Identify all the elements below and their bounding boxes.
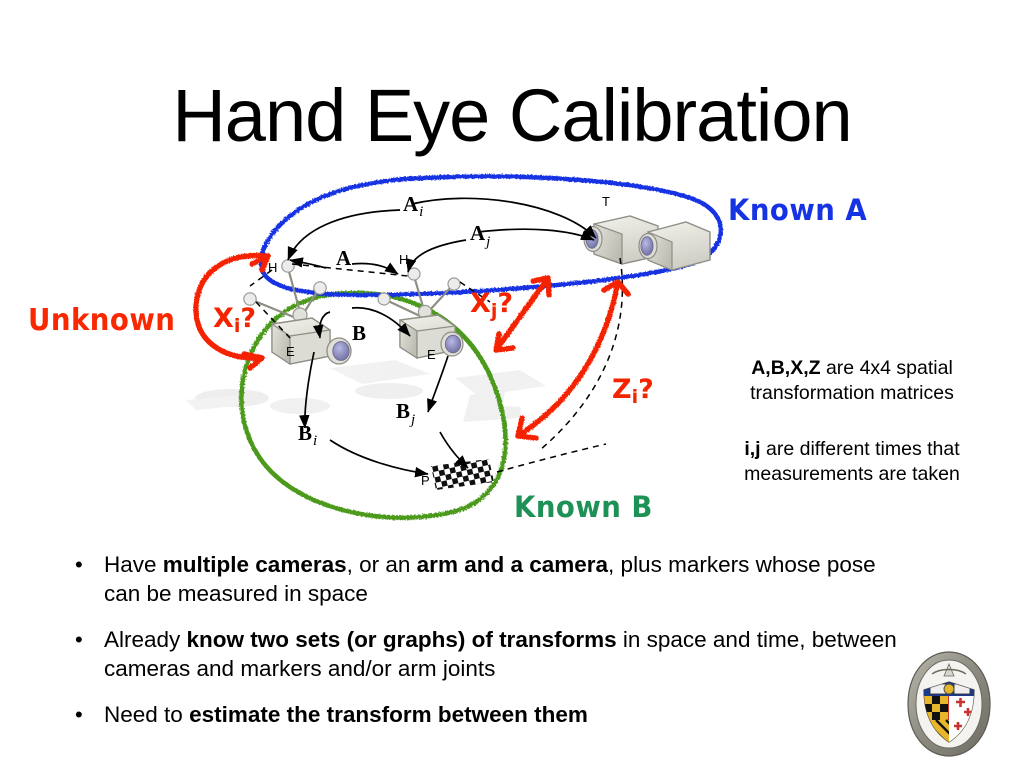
transform-label-a-j: Aj: [470, 221, 490, 250]
transform-label-b-i: Bi: [298, 421, 317, 449]
note-times-text: are different times that measurements ar…: [744, 438, 960, 485]
bullet-list: •Have multiple cameras, or an arm and a …: [68, 550, 898, 746]
bullet-text-segment: Have: [104, 552, 163, 577]
a-graph-edges: [288, 198, 596, 274]
unknown-z-i-arrow: [518, 282, 628, 438]
z-i-mark: ?: [638, 374, 654, 405]
transform-label-a-i: Ai: [403, 192, 423, 220]
seal-svg: [902, 650, 996, 758]
node-label-eye-1: E: [286, 344, 295, 359]
bullet-item: •Need to estimate the transform between …: [68, 700, 898, 729]
transform-label-b: B: [352, 321, 366, 345]
annotation-known-b: Known B: [514, 490, 653, 524]
annotation-known-a: Known A: [728, 193, 867, 227]
bullet-marker: •: [75, 625, 83, 654]
node-label-tracker: T: [602, 194, 610, 209]
transform-label-b-j: Bj: [396, 399, 415, 428]
node-label-hand-2: H: [399, 252, 408, 267]
stereo-tracker: [584, 216, 710, 270]
x-i-base: X: [213, 303, 234, 334]
bullet-marker: •: [75, 700, 83, 729]
transform-label-a: A: [336, 246, 352, 270]
node-label-eye-2: E: [427, 347, 436, 362]
z-i-base: Z: [612, 374, 632, 405]
x-i-mark: ?: [240, 303, 256, 334]
note-matrices-symbols: A,B,X,Z: [751, 357, 820, 379]
bullet-text-segment: multiple cameras: [163, 552, 347, 577]
checkerboard-marker: [431, 459, 494, 490]
johns-hopkins-seal: [902, 650, 996, 758]
bullet-marker: •: [75, 550, 83, 579]
bullet-item: •Already know two sets (or graphs) of tr…: [68, 625, 898, 683]
bullet-item: •Have multiple cameras, or an arm and a …: [68, 550, 898, 608]
bullet-text-segment: arm and a camera: [417, 552, 608, 577]
note-matrices: A,B,X,Z are 4x4 spatial transformation m…: [702, 356, 1002, 406]
note-times: i,j are different times that measurement…: [702, 437, 1002, 487]
x-j-base: X: [470, 288, 491, 319]
bullet-text-segment: estimate the transform between them: [189, 702, 588, 727]
annotation-z-i-query: Zi?: [612, 374, 654, 408]
annotation-unknown: Unknown: [28, 303, 175, 338]
camera-rig-left: [244, 260, 351, 364]
page-title: Hand Eye Calibration: [0, 76, 1024, 156]
annotation-x-i-query: Xi?: [213, 303, 256, 337]
node-label-hand-1: H: [268, 260, 277, 275]
bullet-text-segment: , or an: [347, 552, 417, 577]
note-times-symbols: i,j: [744, 438, 760, 460]
x-j-mark: ?: [497, 288, 513, 319]
bullet-text-segment: know two sets (or graphs) of transforms: [187, 627, 617, 652]
bullet-text-segment: Already: [104, 627, 187, 652]
annotation-x-j-query: Xj?: [470, 288, 513, 322]
node-label-pattern: P: [421, 473, 430, 488]
camera-rig-right: [378, 268, 463, 358]
bullet-text-segment: Need to: [104, 702, 189, 727]
